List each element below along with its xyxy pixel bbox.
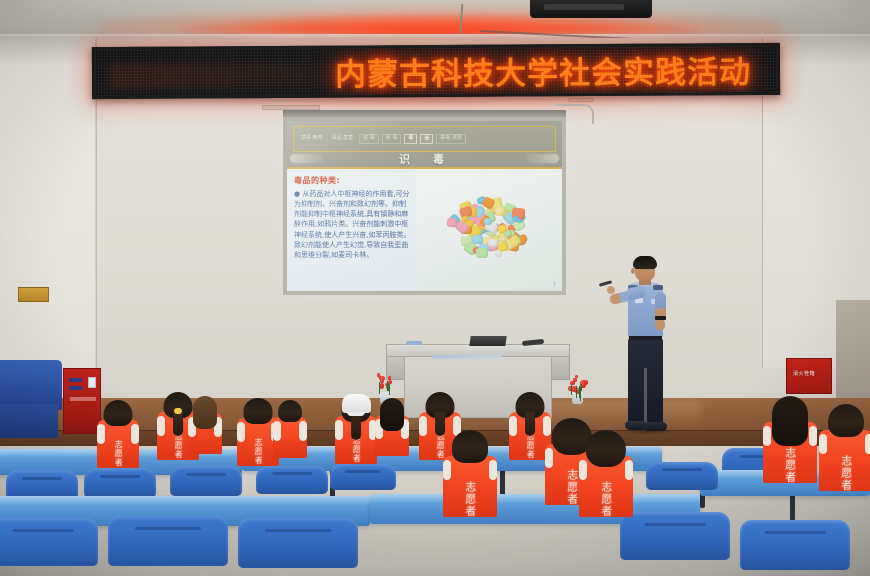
cabinet-text <box>70 397 96 401</box>
slide-body: 毒品的种类: ● 从药品对人中枢神经的作用看,可分为抑制剂、兴奋剂和致幻剂等。抑… <box>287 169 562 291</box>
flower-stem <box>571 385 572 395</box>
slide-nav-tab-2[interactable]: 识 毒 <box>359 134 379 144</box>
flower-bloom-icon <box>573 378 576 381</box>
vest-shoulder-left <box>509 416 517 436</box>
blue-bench-base <box>0 404 58 438</box>
flower-vase <box>572 392 583 404</box>
chair-notch <box>22 477 62 480</box>
cabinet-label-1 <box>69 378 82 382</box>
chair-notch <box>135 527 201 530</box>
vest-text: 志愿者 <box>526 432 534 459</box>
vest-shoulder-right <box>131 424 139 444</box>
chair[interactable] <box>620 512 730 560</box>
pill-icon <box>471 235 482 245</box>
presenter-epaulette-right <box>653 285 663 290</box>
vest-shoulder-left <box>97 424 105 444</box>
vest-shoulder-right <box>625 460 633 480</box>
audience-person <box>375 398 409 454</box>
volunteer-vest: 志愿者 <box>97 420 139 468</box>
vest-text: 志愿者 <box>114 440 122 467</box>
vest-text: 志愿者 <box>784 447 796 483</box>
chair[interactable] <box>256 466 328 494</box>
slide-nav-tab-0[interactable]: 禁毒 教育 <box>298 135 326 143</box>
flower-stem <box>388 383 389 391</box>
audience-person: 志愿者 <box>443 430 497 514</box>
chair[interactable] <box>330 464 396 490</box>
pill-icon <box>484 217 492 224</box>
presenter-hand-right <box>655 320 665 330</box>
slide-nav-tab-6[interactable]: 禁毒 法规 <box>436 134 466 144</box>
flower-stem <box>379 382 380 394</box>
chair[interactable] <box>170 466 242 496</box>
chair-notch <box>265 529 331 532</box>
slide-text-column: 毒品的种类: ● 从药品对人中枢神经的作用看,可分为抑制剂、兴奋剂和致幻剂等。抑… <box>287 169 416 291</box>
vest-shoulder-left <box>237 422 245 442</box>
chair[interactable] <box>740 520 850 570</box>
cabinet-tag <box>88 377 96 388</box>
hair <box>380 398 404 431</box>
wall-panel-left <box>0 38 96 398</box>
hair <box>772 396 808 446</box>
hair <box>452 430 488 463</box>
lecture-hall-photo: 内蒙古科技大学社会实践活动 禁毒 教育 毒品 危害 识 毒 拒 毒 毒 品 禁毒… <box>0 0 870 576</box>
audience-person <box>273 400 307 456</box>
slide-nav-tab-3[interactable]: 拒 毒 <box>382 134 402 144</box>
vest-text: 志愿者 <box>566 469 578 505</box>
chair[interactable] <box>238 518 358 568</box>
vest-text: 志愿者 <box>600 481 612 517</box>
vest-shoulder-right <box>489 460 497 480</box>
projection-screen: 禁毒 教育 毒品 危害 识 毒 拒 毒 毒 品 禁毒 法规 识 毒 毒品的种类:… <box>283 117 566 295</box>
desk-edge <box>0 496 370 505</box>
audience-person: 志愿者 <box>819 404 870 488</box>
chair-notch <box>100 475 140 478</box>
fire-hydrant-cabinet-right: 消火栓箱 <box>786 358 832 394</box>
hair <box>828 404 864 437</box>
pill-icon <box>488 239 498 248</box>
audience-person: 志愿者 <box>97 400 139 466</box>
vest-text: 志愿者 <box>352 436 360 463</box>
led-banner-text: 内蒙古科技大学社会实践活动 <box>95 47 751 96</box>
chair-notch <box>186 473 226 476</box>
hair <box>244 398 273 424</box>
ponytail <box>525 412 535 437</box>
flower-arrangement-right <box>566 372 588 404</box>
volunteer-vest: 志愿者 <box>443 456 497 517</box>
hair <box>193 396 217 429</box>
vest-shoulder-left <box>335 420 343 440</box>
podium-document <box>406 341 422 345</box>
chair[interactable] <box>84 468 156 498</box>
chair-notch <box>272 472 312 475</box>
slide-image-pills: 7 <box>416 169 562 291</box>
blue-bench <box>0 360 62 410</box>
podium-control-strip <box>432 355 502 359</box>
vest-shoulder-right <box>809 426 817 446</box>
vest-text: 志愿者 <box>174 432 182 459</box>
chair-notch <box>645 523 706 526</box>
vest-shoulder-left <box>419 416 427 436</box>
chair[interactable] <box>0 518 98 566</box>
ponytail <box>173 412 183 437</box>
cap-brim <box>347 412 365 416</box>
hair <box>104 400 133 426</box>
presenter-shoe-left <box>625 421 646 430</box>
vest-shoulder-left <box>273 421 281 441</box>
slide-nav-bar: 禁毒 教育 毒品 危害 识 毒 拒 毒 毒 品 禁毒 法规 <box>293 126 556 152</box>
white-cap <box>342 394 371 413</box>
fire-cabinet-text: 消火栓箱 <box>793 370 815 377</box>
vest-shoulder-left <box>819 434 827 454</box>
flower-stem <box>581 384 582 391</box>
vest-shoulder-left <box>545 448 553 468</box>
chair-notch <box>345 470 381 473</box>
presenter-hair <box>633 256 657 269</box>
audience-person: 志愿者 <box>763 396 817 480</box>
hair <box>278 400 302 422</box>
vest-shoulder-right <box>299 421 307 441</box>
vest-shoulder-left <box>763 426 771 446</box>
vest-shoulder-left <box>579 460 587 480</box>
chair[interactable] <box>108 516 228 566</box>
laptop-icon[interactable] <box>469 336 506 346</box>
chair[interactable] <box>646 462 718 490</box>
flower-stem <box>389 383 390 396</box>
pill-icon <box>446 218 457 228</box>
wall-plaque <box>18 287 49 302</box>
slide-nav-tab-4[interactable]: 毒 <box>404 134 417 144</box>
door-frame-right <box>836 300 870 398</box>
vest-text: 志愿者 <box>464 481 476 517</box>
presenter-police-officer <box>611 258 683 438</box>
audience-person: 志愿者 <box>579 430 633 514</box>
chair-notch <box>13 529 74 532</box>
vest-text: 志愿者 <box>840 455 852 491</box>
audience-person <box>188 396 222 452</box>
slide-heading: 毒品的种类: <box>294 175 412 186</box>
volunteer-vest: 志愿者 <box>819 430 870 491</box>
pill-icon <box>476 248 488 258</box>
flower-stem <box>576 386 577 398</box>
slide-header: 禁毒 教育 毒品 危害 识 毒 拒 毒 毒 品 禁毒 法规 识 毒 <box>287 121 562 169</box>
chair-notch <box>765 531 826 534</box>
presenter-shoe-right <box>645 422 667 431</box>
vest-text: 志愿者 <box>254 438 262 465</box>
led-scrolling-banner: 内蒙古科技大学社会实践活动 <box>92 43 780 99</box>
presenter-belt <box>629 336 662 340</box>
ponytail <box>351 416 361 441</box>
vest-shoulder-left <box>157 416 165 436</box>
slide-title: 识 毒 <box>287 151 562 167</box>
hair <box>586 430 626 467</box>
presenter-leg-gap <box>644 368 647 424</box>
slide-nav-tab-1[interactable]: 毒品 危害 <box>329 135 357 143</box>
slide-paragraph: ● 从药品对人中枢神经的作用看,可分为抑制剂、兴奋剂和致幻剂等。抑制剂能抑制中枢… <box>294 189 412 260</box>
fire-equipment-cabinet-left <box>63 368 101 434</box>
projector-mount <box>530 0 652 18</box>
desk-edge <box>370 494 700 503</box>
chair-notch <box>662 468 702 471</box>
volunteer-vest <box>273 417 307 458</box>
slide-page-number: 7 <box>553 282 556 288</box>
presentation-slide: 禁毒 教育 毒品 危害 识 毒 拒 毒 毒 品 禁毒 法规 识 毒 毒品的种类:… <box>287 121 562 291</box>
slide-nav-tab-5[interactable]: 品 <box>420 134 433 144</box>
hair-scrunchie <box>174 408 182 414</box>
vest-shoulder-right <box>865 434 870 454</box>
audience-person: 志愿者 <box>335 396 377 462</box>
presenter-ear <box>631 268 635 274</box>
cabinet-label-2 <box>69 386 82 390</box>
vest-shoulder-left <box>443 460 451 480</box>
